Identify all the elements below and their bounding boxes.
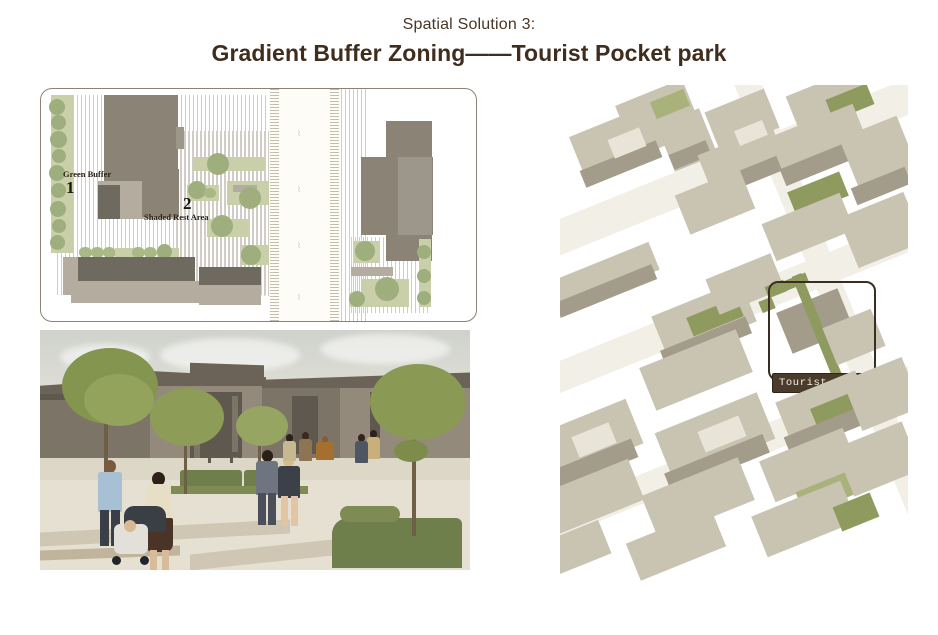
leg — [268, 493, 276, 525]
torso — [316, 442, 334, 460]
stroller-wheel — [112, 556, 121, 565]
torso — [256, 461, 278, 495]
shrub-bed — [332, 518, 462, 568]
tree — [211, 215, 233, 237]
tree-canopy — [394, 440, 428, 462]
tree — [207, 153, 229, 175]
torso — [299, 439, 312, 461]
tree-canopy — [370, 364, 466, 440]
bench — [200, 452, 240, 457]
tree — [417, 245, 431, 259]
planting-bed — [193, 157, 265, 171]
render-panel — [40, 330, 470, 570]
tree-canopy — [236, 406, 288, 446]
title-block: Spatial Solution 3: Gradient Buffer Zoni… — [0, 14, 938, 68]
road-marking: ⌇ — [297, 129, 301, 138]
annotation-number-1: 1 — [66, 178, 75, 198]
grass-strip — [340, 506, 400, 522]
torso — [283, 441, 296, 461]
building-roof-upper — [190, 363, 264, 384]
tree — [50, 235, 65, 250]
building-mass — [199, 285, 261, 305]
leg — [100, 510, 109, 546]
bench-leg — [208, 456, 211, 463]
planting-bed — [115, 248, 133, 257]
torso — [278, 466, 300, 498]
tree — [375, 277, 399, 301]
building-mass — [78, 257, 195, 281]
building-mass — [142, 169, 179, 217]
tree — [241, 245, 261, 265]
bench-leg — [230, 456, 233, 463]
cloud — [320, 334, 450, 364]
pavilion — [351, 267, 393, 276]
pocketpark-highlight-frame — [768, 281, 876, 381]
torso — [367, 437, 380, 459]
building-wing — [176, 127, 184, 149]
baby-head — [124, 520, 136, 532]
tree — [51, 183, 66, 198]
building-mass — [398, 157, 432, 235]
slide-subtitle: Spatial Solution 3: — [0, 14, 938, 36]
tree — [349, 291, 365, 307]
site-plan-canvas: ⌇ ⌇ ⌇ ⌇ Green Buffer 1 — [41, 89, 476, 321]
torso — [98, 472, 122, 512]
torso — [355, 441, 368, 463]
leg — [162, 550, 169, 570]
tree — [49, 99, 65, 115]
leg — [150, 550, 157, 570]
slide-board: Spatial Solution 3: Gradient Buffer Zoni… — [0, 0, 938, 635]
tree — [50, 131, 67, 148]
road-marking: ⌇ — [297, 241, 301, 250]
shrub — [204, 188, 216, 198]
road-marking: ⌇ — [297, 293, 301, 302]
sidewalk-edge — [270, 89, 279, 321]
building-mass — [71, 281, 199, 303]
building-mass — [199, 267, 261, 287]
annotation-label-shaded-rest-area: Shaded Rest Area — [144, 212, 209, 222]
stroller-wheel — [140, 556, 149, 565]
sidewalk-edge — [330, 89, 339, 321]
tree — [51, 115, 66, 130]
tree — [355, 241, 375, 261]
tree — [417, 269, 431, 283]
tree — [52, 149, 66, 163]
tree — [52, 219, 66, 233]
tree-canopy — [150, 388, 224, 446]
road-marking: ⌇ — [297, 185, 301, 194]
tree — [239, 187, 261, 209]
slide-heading: Gradient Buffer Zoning——Tourist Pocket p… — [0, 38, 938, 68]
tree — [50, 201, 66, 217]
tree-canopy — [84, 374, 154, 426]
leg — [258, 493, 266, 525]
leg — [291, 496, 298, 526]
leg — [281, 496, 288, 526]
site-plan-panel: ⌇ ⌇ ⌇ ⌇ Green Buffer 1 — [40, 88, 477, 322]
annotation-number-2: 2 — [183, 194, 192, 214]
axon-map-panel: Tourist pocketpark — [560, 85, 908, 585]
tree — [417, 291, 431, 305]
building-mass — [98, 185, 120, 219]
